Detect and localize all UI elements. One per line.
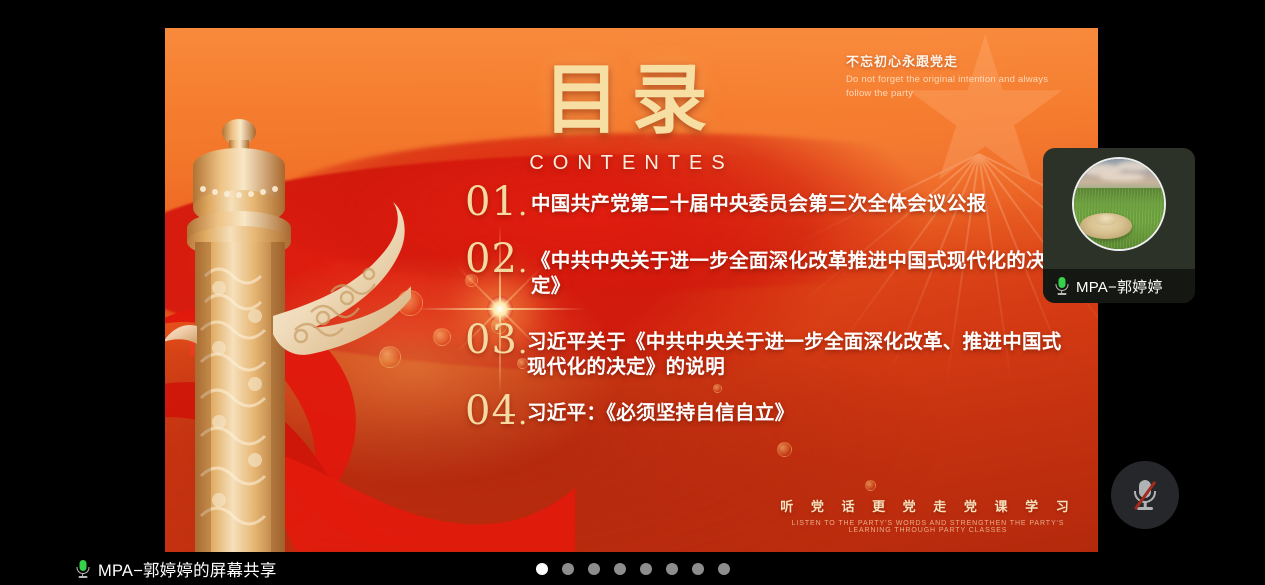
toc-label: 中国共产党第二十届中央委员会第三次全体会议公报	[531, 183, 986, 217]
microphone-on-icon	[76, 560, 89, 578]
toc-item[interactable]: 04. 习近平：《必须坚持自信自立》	[465, 392, 1065, 431]
screen-share-status: MPA−郭婷婷的屏幕共享	[76, 557, 277, 581]
toc-number: 04.	[465, 392, 531, 431]
toc-number: 03.	[465, 321, 531, 360]
participant-label: MPA−郭婷婷	[1043, 269, 1195, 303]
toc-item[interactable]: 01. 中国共产党第二十届中央委员会第三次全体会议公报	[465, 183, 1065, 222]
page-dot[interactable]	[718, 563, 730, 575]
avatar-cloud	[1117, 161, 1151, 171]
microphone-on-icon	[1055, 277, 1068, 295]
screen-share-label: MPA−郭婷婷的屏幕共享	[98, 557, 277, 581]
toc-item[interactable]: 02. 《中共中央关于进一步全面深化改革推进中国式现代化的决定》	[465, 240, 1065, 299]
toc-item[interactable]: 03. 习近平关于《中共中央关于进一步全面深化改革、推进中国式现代化的决定》的说…	[465, 321, 1065, 380]
participant-name: MPA−郭婷婷	[1076, 276, 1163, 297]
toc-label: 习近平关于《中共中央关于进一步全面深化改革、推进中国式现代化的决定》的说明	[527, 321, 1065, 380]
page-dot[interactable]	[692, 563, 704, 575]
toc-number: 02.	[465, 240, 531, 279]
microphone-muted-icon	[1133, 479, 1157, 511]
avatar-straw-hat	[1080, 213, 1132, 239]
shared-slide[interactable]: 目录 CONTENTES 不忘初心永跟党走 Do not forget the …	[165, 28, 1098, 552]
participant-video-tile[interactable]: MPA−郭婷婷	[1043, 148, 1195, 303]
page-dot[interactable]	[666, 563, 678, 575]
footer-slogan: 听 党 话 更 党 走 党 课 学 习 LISTEN TO THE PARTY'…	[778, 496, 1078, 534]
page-dot[interactable]	[562, 563, 574, 575]
page-subtitle: CONTENTES	[165, 152, 1098, 175]
toc-label: 《中共中央关于进一步全面深化改革推进中国式现代化的决定》	[531, 240, 1065, 299]
page-dot[interactable]	[614, 563, 626, 575]
footer-slogan-en: LISTEN TO THE PARTY'S WORDS AND STRENGTH…	[778, 520, 1078, 534]
page-dot[interactable]	[588, 563, 600, 575]
avatar	[1072, 157, 1166, 251]
page-dot[interactable]	[640, 563, 652, 575]
toc-number: 01.	[465, 183, 531, 222]
page-indicator-dots[interactable]	[536, 563, 730, 575]
screen-share-meeting-view: 目录 CONTENTES 不忘初心永跟党走 Do not forget the …	[0, 0, 1265, 585]
footer-slogan-cn: 听 党 话 更 党 走 党 课 学 习	[778, 496, 1078, 515]
corner-slogan-cn: 不忘初心永跟党走	[846, 51, 1076, 70]
page-dot[interactable]	[536, 563, 548, 575]
toc-label: 习近平：《必须坚持自信自立》	[527, 392, 794, 426]
table-of-contents: 01. 中国共产党第二十届中央委员会第三次全体会议公报 02. 《中共中央关于进…	[465, 183, 1065, 449]
corner-slogan: 不忘初心永跟党走 Do not forget the original inte…	[846, 51, 1076, 102]
corner-slogan-en: Do not forget the original intention and…	[846, 73, 1076, 102]
bottom-status-bar: MPA−郭婷婷的屏幕共享	[0, 552, 1265, 585]
mute-toggle-button[interactable]	[1111, 461, 1179, 529]
